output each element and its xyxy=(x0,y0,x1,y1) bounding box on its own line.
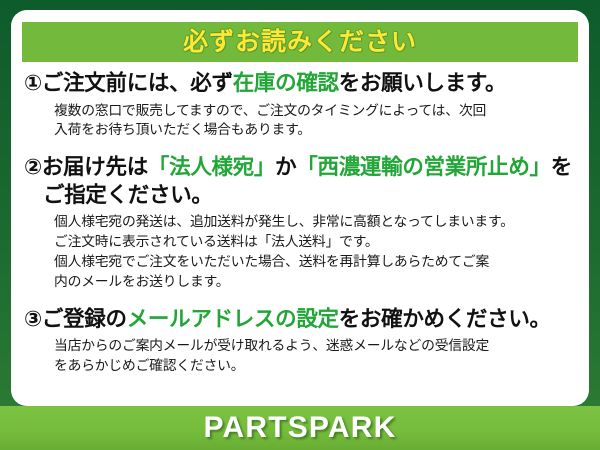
heading-text: お届け先は xyxy=(42,155,148,179)
notice-item: ①ご注文前には、必ず在庫の確認をお願いします。複数の窓口で販売してますので、ご注… xyxy=(11,70,589,140)
notice-item-body-line: 複数の窓口で販売してますので、ご注文のタイミングによっては、次回 xyxy=(54,101,581,121)
heading-emphasis: 「法人様宛」 xyxy=(148,155,275,179)
notice-item-body-line: 個人様宅宛の発送は、追加送料が発生し、非常に高額となってしまいます。 xyxy=(54,212,581,232)
heading-emphasis: メールアドレスの設定 xyxy=(127,307,339,331)
brand-logo-text: PARTSPARK xyxy=(203,413,396,443)
heading-text: か xyxy=(275,155,296,179)
notice-item-marker: ② xyxy=(24,155,42,179)
notice-item-body: 個人様宅宛の発送は、追加送料が発生し、非常に高額となってしまいます。ご注文時に表… xyxy=(24,212,581,291)
notice-item-heading: ③ご登録のメールアドレスの設定をお確かめください。 xyxy=(24,306,581,334)
notice-item-body: 複数の窓口で販売してますので、ご注文のタイミングによっては、次回入荷をお待ち頂い… xyxy=(24,101,581,141)
notice-item: ③ご登録のメールアドレスの設定をお確かめください。当店からのご案内メールが受け取… xyxy=(11,306,589,376)
notice-card: 必ずお読みください ①ご注文前には、必ず在庫の確認をお願いします。複数の窓口で販… xyxy=(0,0,600,450)
footer-bar: PARTSPARK xyxy=(0,406,600,450)
heading-text: をお願いします。 xyxy=(339,71,506,95)
notice-item-body-line: ご注文時に表示されている送料は「法人送料」です。 xyxy=(54,232,581,252)
banner-title: 必ずお読みください xyxy=(183,30,417,55)
notice-item-heading: ①ご注文前には、必ず在庫の確認をお願いします。 xyxy=(24,70,581,98)
notice-item-body-line: 入荷をお待ち頂いただく場合もあります。 xyxy=(54,120,581,140)
heading-text: をお確かめください。 xyxy=(339,307,551,331)
notice-item-list: ①ご注文前には、必ず在庫の確認をお願いします。複数の窓口で販売してますので、ご注… xyxy=(11,70,589,376)
header-banner: 必ずお読みください xyxy=(22,22,578,62)
notice-item: ②お届け先は「法人様宛」か「西濃運輸の営業所止め」をご指定ください。個人様宅宛の… xyxy=(11,154,589,291)
notice-item-body: 当店からのご案内メールが受け取れるよう、迷惑メールなどの受信設定をあらかじめご確… xyxy=(24,336,581,376)
heading-emphasis: 在庫の確認 xyxy=(233,71,339,95)
notice-item-body-line: 当店からのご案内メールが受け取れるよう、迷惑メールなどの受信設定 xyxy=(54,336,581,356)
notice-item-heading: ②お届け先は「法人様宛」か「西濃運輸の営業所止め」をご指定ください。 xyxy=(24,154,581,209)
heading-emphasis: 「西濃運輸の営業所止め」 xyxy=(296,155,550,179)
notice-item-body-line: 内のメールをお送りします。 xyxy=(54,272,581,292)
heading-text: ご登録の xyxy=(42,307,127,331)
white-content-card: 必ずお読みください ①ご注文前には、必ず在庫の確認をお願いします。複数の窓口で販… xyxy=(11,10,589,406)
notice-item-marker: ① xyxy=(24,71,42,95)
notice-item-body-line: をあらかじめご確認ください。 xyxy=(54,356,581,376)
notice-item-body-line: 個人様宅宛でご注文をいただいた場合、送料を再計算しあらためてご案 xyxy=(54,252,581,272)
heading-text: ご注文前には、必ず xyxy=(42,71,233,95)
notice-item-marker: ③ xyxy=(24,307,42,331)
